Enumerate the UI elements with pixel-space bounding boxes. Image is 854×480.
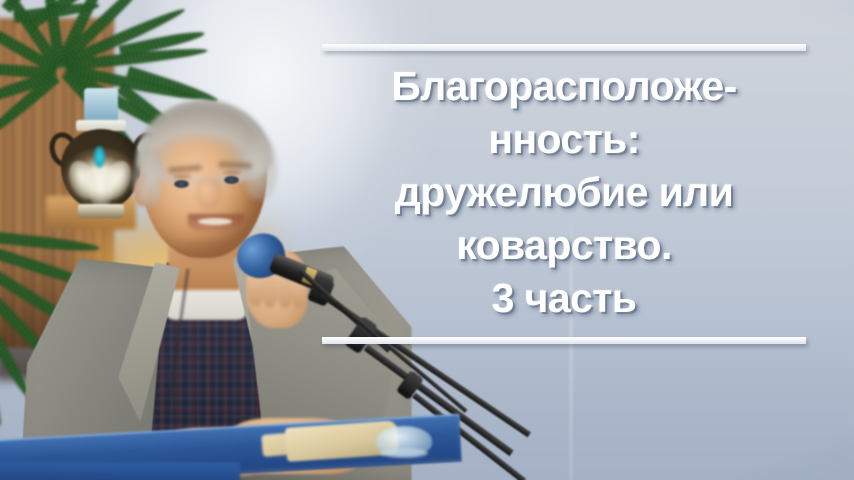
nose — [196, 178, 222, 210]
title-overlay: Благорасположе- нность: дружелюбие или к… — [312, 44, 816, 344]
eye-left — [174, 180, 189, 188]
eye-right — [224, 176, 239, 184]
speaker-hair-left — [132, 150, 162, 208]
teeth — [198, 218, 232, 225]
bottom-divider — [322, 337, 806, 344]
page-title: Благорасположе- нность: дружелюбие или к… — [312, 60, 816, 325]
top-divider — [322, 44, 806, 51]
drinking-glass-base — [380, 448, 428, 458]
lectern-face — [0, 462, 240, 480]
video-title-card: Благорасположе- нность: дружелюбие или к… — [0, 0, 854, 480]
